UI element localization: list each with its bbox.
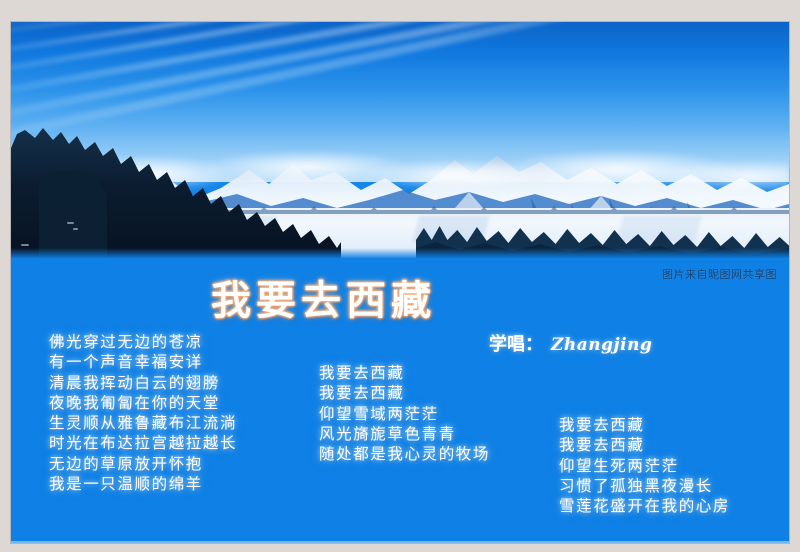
credit-singer-name: Zhangjing bbox=[551, 335, 652, 355]
lyric-line: 我要去西藏 bbox=[319, 383, 490, 403]
poster-title: 我要去西藏 bbox=[211, 268, 436, 326]
lyric-line: 风光旖旎草色青青 bbox=[319, 424, 490, 444]
lyric-line: 我要去西藏 bbox=[559, 435, 730, 455]
credit-label: 学唱： bbox=[489, 330, 543, 356]
poster-frame: 图片来自昵图网共享图 我要去西藏 学唱： Zhangjing 佛光穿过无边的苍凉… bbox=[0, 0, 800, 552]
lyric-line: 夜晚我匍匐在你的天堂 bbox=[49, 393, 237, 413]
lyrics-column-1: 佛光穿过无边的苍凉 有一个声音幸福安详 清晨我挥动白云的翅膀 夜晚我匍匐在你的天… bbox=[49, 332, 237, 494]
mountain-landscape-photo bbox=[11, 22, 789, 258]
lyric-line: 我要去西藏 bbox=[559, 415, 730, 435]
lyric-line: 佛光穿过无边的苍凉 bbox=[49, 332, 237, 352]
lyric-line: 我是一只温顺的绵羊 bbox=[49, 474, 237, 494]
source-watermark: 图片来自昵图网共享图 bbox=[662, 266, 777, 282]
lyric-line: 仰望雪域两茫茫 bbox=[319, 404, 490, 424]
lyric-line: 清晨我挥动白云的翅膀 bbox=[49, 373, 237, 393]
lyric-line: 习惯了孤独黑夜漫长 bbox=[559, 476, 730, 496]
lyric-line: 时光在布达拉宫越拉越长 bbox=[49, 433, 237, 453]
lyric-line: 无边的草原放开怀抱 bbox=[49, 454, 237, 474]
lyric-line: 有一个声音幸福安详 bbox=[49, 352, 237, 372]
foreground-forest-silhouette bbox=[11, 126, 341, 258]
lyric-line: 生灵顺从雅鲁藏布江流淌 bbox=[49, 413, 237, 433]
lyrics-column-2: 我要去西藏 我要去西藏 仰望雪域两茫茫 风光旖旎草色青青 随处都是我心灵的牧场 bbox=[319, 363, 490, 464]
photo-bottom-fade bbox=[11, 248, 789, 258]
lyric-line: 我要去西藏 bbox=[319, 363, 490, 383]
poster-card: 图片来自昵图网共享图 我要去西藏 学唱： Zhangjing 佛光穿过无边的苍凉… bbox=[11, 22, 789, 543]
lyrics-column-3: 我要去西藏 我要去西藏 仰望生死两茫茫 习惯了孤独黑夜漫长 雪莲花盛开在我的心房 bbox=[559, 415, 730, 516]
lyric-line: 随处都是我心灵的牧场 bbox=[319, 444, 490, 464]
poster-bottom-edge bbox=[11, 541, 789, 543]
lyric-line: 仰望生死两茫茫 bbox=[559, 456, 730, 476]
singer-credit: 学唱： Zhangjing bbox=[489, 330, 652, 356]
lyric-line: 雪莲花盛开在我的心房 bbox=[559, 496, 730, 516]
